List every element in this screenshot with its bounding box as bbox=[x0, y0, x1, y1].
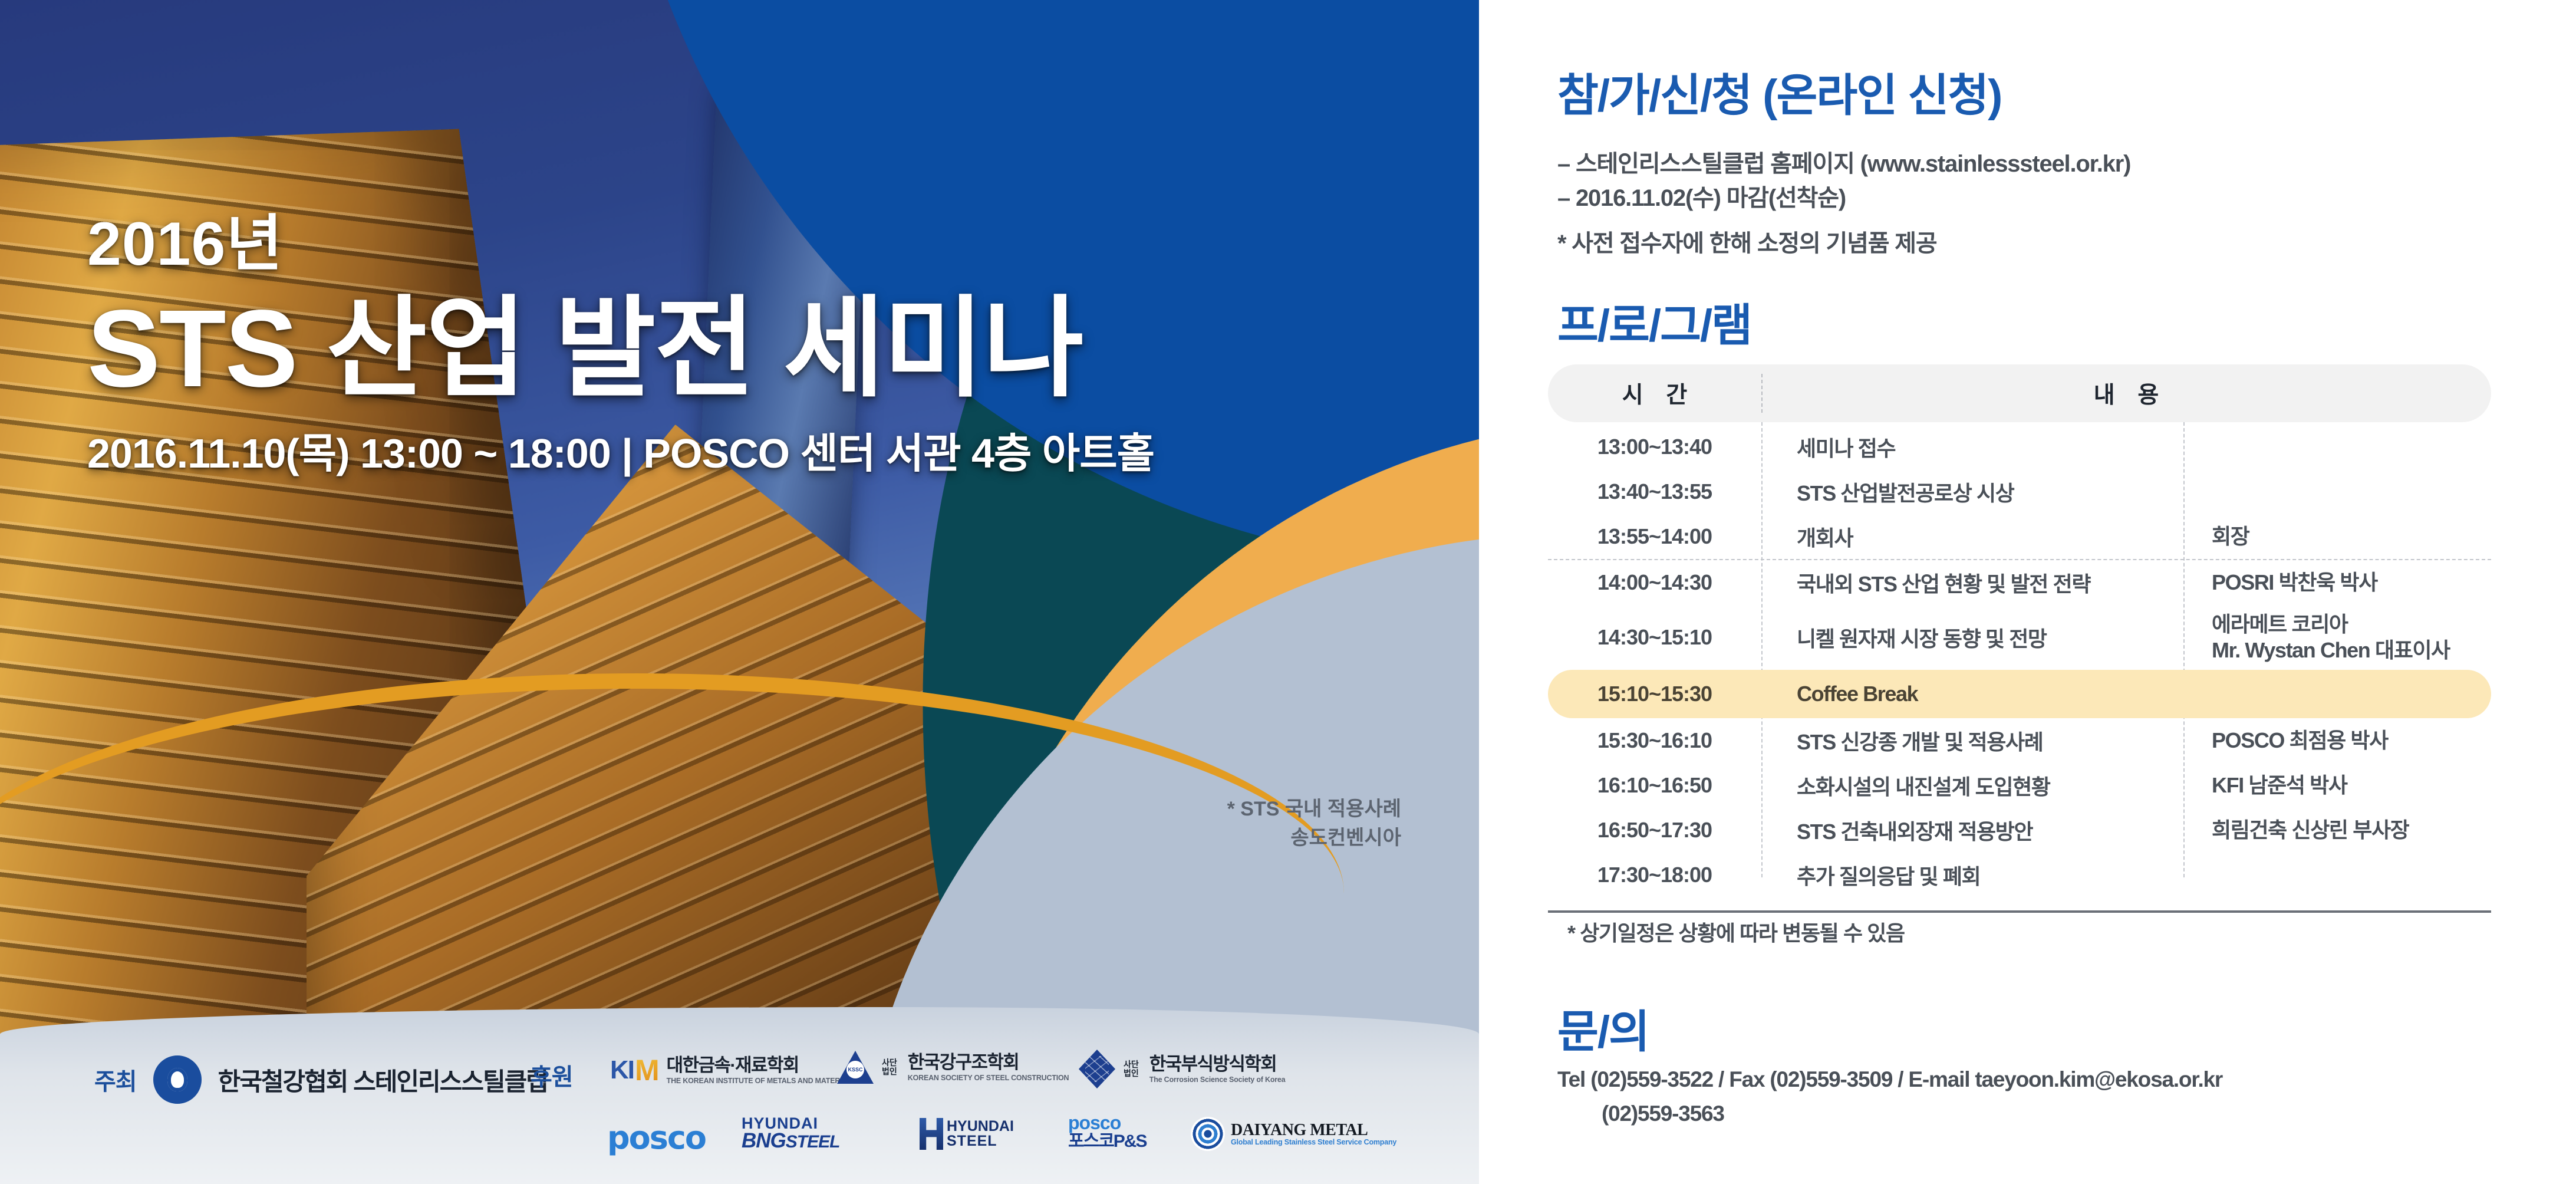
society-logo-kim: KIM 대한금속·재료학회 THE KOREAN INSTITUTE OF ME… bbox=[610, 1053, 857, 1087]
pns-line2: 포스코P&S bbox=[1068, 1133, 1147, 1151]
column-header-content: 내 용 bbox=[1761, 377, 2491, 410]
row-topic: STS 산업발전공로상 시상 bbox=[1761, 476, 2183, 507]
program-table: 시 간 내 용 13:00~13:40 세미나 접수 13:40~13:55 S… bbox=[1548, 364, 2491, 913]
row-topic: 세미나 접수 bbox=[1761, 432, 2183, 462]
row-topic: STS 건축내외장재 적용방안 bbox=[1761, 815, 2183, 846]
event-year: 2016년 bbox=[87, 213, 1372, 275]
table-row: 14:00~14:30 국내외 STS 산업 현황 및 발전 전략 POSRI … bbox=[1548, 560, 2491, 605]
korea-iron-steel-association-seal-icon bbox=[153, 1055, 202, 1104]
info-panel: 참/가/신/청 (온라인 신청) – 스테인리스스틸클럽 홈페이지 (www.s… bbox=[1479, 0, 2576, 1184]
row-speaker: 회장 bbox=[2183, 524, 2491, 550]
daiyang-line2: Global Leading Stainless Steel Service C… bbox=[1231, 1139, 1396, 1146]
society-name-kr: 한국부식방식학회 bbox=[1149, 1055, 1286, 1073]
hyundai-steel-logo-icon bbox=[920, 1118, 943, 1150]
daiyang-line1: DAIYANG METAL bbox=[1231, 1121, 1396, 1139]
photo-caption-line1: * STS 국내 적용사례 bbox=[1227, 795, 1401, 824]
society-name-en: KOREAN SOCIETY OF STEEL CONSTRUCTION bbox=[908, 1074, 1069, 1082]
bng-line2: BNG bbox=[742, 1129, 786, 1152]
row-time: 13:55~14:00 bbox=[1548, 524, 1761, 549]
hyundai-steel-line1: HYUNDAI bbox=[947, 1119, 1014, 1134]
society-name-kr: 대한금속·재료학회 bbox=[667, 1056, 857, 1074]
row-speaker: POSCO 최점용 박사 bbox=[2183, 728, 2491, 754]
table-row: 15:30~16:10 STS 신강종 개발 및 적용사례 POSCO 최점용 … bbox=[1548, 718, 2491, 763]
row-speaker: KFI 남준석 박사 bbox=[2183, 772, 2491, 798]
contact-heading: 문/의 bbox=[1557, 995, 1649, 1060]
row-time: 13:40~13:55 bbox=[1548, 479, 1761, 504]
page-title: STS 산업 발전 세미나 bbox=[87, 290, 1372, 409]
pns-line1: posco bbox=[1068, 1113, 1147, 1133]
corrosion-science-diamond-icon bbox=[1079, 1050, 1115, 1088]
row-time: 15:30~16:10 bbox=[1548, 728, 1761, 753]
company-logo-daiyang-metal: DAIYANG METAL Global Leading Stainless S… bbox=[1191, 1117, 1396, 1151]
bng-line2b: STEEL bbox=[786, 1132, 840, 1152]
row-time: 14:30~15:10 bbox=[1548, 625, 1761, 650]
row-time: 13:00~13:40 bbox=[1548, 435, 1761, 459]
row-time: 15:10~15:30 bbox=[1548, 682, 1761, 706]
table-row: 14:30~15:10 니켈 원자재 시장 동향 및 전망 에라메트 코리아 M… bbox=[1548, 605, 2491, 670]
hero-title-block: 2016년 STS 산업 발전 세미나 2016.11.10(목) 13:00 … bbox=[87, 213, 1372, 476]
event-datetime-venue: 2016.11.10(목) 13:00 ~ 18:00 | POSCO 센터 서… bbox=[87, 431, 1372, 476]
row-topic: Coffee Break bbox=[1761, 682, 2183, 706]
host-group: 주최 한국철강협회 스테인리스스틸클럽 bbox=[94, 1055, 548, 1104]
company-logo-bng-steel: HYUNDAI BNGSTEEL bbox=[742, 1116, 839, 1152]
sponsor-label: 후원 bbox=[531, 1058, 573, 1092]
contact-line-primary: Tel (02)559-3522 / Fax (02)559-3509 / E-… bbox=[1557, 1067, 2222, 1092]
hero-visual-panel: 2016년 STS 산업 발전 세미나 2016.11.10(목) 13:00 … bbox=[0, 0, 1479, 1184]
row-time: 17:30~18:00 bbox=[1548, 863, 1761, 887]
society-prefix: 사단법인 bbox=[1124, 1060, 1139, 1077]
company-logo-hyundai-steel: HYUNDAI STEEL bbox=[920, 1118, 1014, 1150]
row-topic: 니켈 원자재 시장 동향 및 전망 bbox=[1761, 622, 2183, 653]
table-row: 17:30~18:00 추가 질의응답 및 폐회 bbox=[1548, 853, 2491, 897]
registration-line-gift: * 사전 접수자에 한해 소정의 기념품 제공 bbox=[1557, 224, 1936, 258]
posco-pns-logo-icon: posco 포스코P&S bbox=[1068, 1113, 1147, 1150]
header-column-divider bbox=[1761, 374, 1763, 413]
row-topic: 국내외 STS 산업 현황 및 발전 전략 bbox=[1761, 567, 2183, 598]
row-time: 16:10~16:50 bbox=[1548, 773, 1761, 798]
row-topic: 개회사 bbox=[1761, 521, 2183, 552]
hyundai-bng-steel-logo-icon: HYUNDAI BNGSTEEL bbox=[742, 1116, 839, 1152]
table-body: 13:00~13:40 세미나 접수 13:40~13:55 STS 산업발전공… bbox=[1548, 422, 2491, 897]
row-topic: 소화시설의 내진설계 도입현황 bbox=[1761, 770, 2183, 801]
row-speaker: POSRI 박찬욱 박사 bbox=[2183, 570, 2491, 596]
photo-caption-line2: 송도컨벤시아 bbox=[1227, 824, 1401, 853]
society-name-en: THE KOREAN INSTITUTE OF METALS AND MATER… bbox=[667, 1077, 857, 1085]
contact-line-secondary: (02)559-3563 bbox=[1602, 1101, 1724, 1126]
registration-heading: 참/가/신/청 (온라인 신청) bbox=[1557, 59, 2001, 124]
program-heading: 프/로/그/램 bbox=[1557, 289, 1751, 354]
seminar-poster: 2016년 STS 산업 발전 세미나 2016.11.10(목) 13:00 … bbox=[0, 0, 2576, 1184]
society-name-en: The Corrosion Science Society of Korea bbox=[1149, 1076, 1286, 1084]
company-logo-posco-pns: posco 포스코P&S bbox=[1068, 1113, 1147, 1150]
table-row: 13:00~13:40 세미나 접수 bbox=[1548, 425, 2491, 469]
row-time: 16:50~17:30 bbox=[1548, 818, 1761, 843]
daiyang-metal-logo-icon bbox=[1191, 1117, 1225, 1151]
row-speaker: 희림건축 신상린 부사장 bbox=[2183, 817, 2491, 843]
registration-line-website: – 스테인리스스틸클럽 홈페이지 (www.stainlesssteel.or.… bbox=[1557, 144, 2130, 179]
table-row: 16:10~16:50 소화시설의 내진설계 도입현황 KFI 남준석 박사 bbox=[1548, 763, 2491, 808]
table-row-coffee-break: 15:10~15:30 Coffee Break bbox=[1548, 670, 2491, 718]
society-logo-corrosion: 사단법인 한국부식방식학회 The Corrosion Science Soci… bbox=[1079, 1050, 1285, 1088]
kim-logo-icon: KIM bbox=[610, 1053, 658, 1087]
society-prefix: 사단법인 bbox=[882, 1058, 897, 1076]
host-name: 한국철강협회 스테인리스스틸클럽 bbox=[218, 1062, 548, 1098]
society-logo-kssc: 사단법인 한국강구조학회 KOREAN SOCIETY OF STEEL CON… bbox=[837, 1051, 1069, 1084]
society-name-kr: 한국강구조학회 bbox=[908, 1053, 1069, 1071]
registration-line-deadline: – 2016.11.02(수) 마감(선착순) bbox=[1557, 179, 1846, 213]
table-row: 16:50~17:30 STS 건축내외장재 적용방안 희림건축 신상린 부사장 bbox=[1548, 808, 2491, 853]
column-header-time: 시 간 bbox=[1548, 377, 1761, 410]
sponsor-logo-strip: 주최 한국철강협회 스테인리스스틸클럽 후원 KIM 대한금속·재료학회 THE… bbox=[0, 1032, 1479, 1184]
table-row: 13:55~14:00 개회사 회장 bbox=[1548, 514, 2491, 559]
program-note: * 상기일정은 상황에 따라 변동될 수 있음 bbox=[1567, 916, 1905, 947]
table-header-row: 시 간 내 용 bbox=[1548, 364, 2491, 422]
row-time: 14:00~14:30 bbox=[1548, 570, 1761, 595]
row-topic: STS 신강종 개발 및 적용사례 bbox=[1761, 725, 2183, 756]
table-bottom-rule bbox=[1548, 910, 2491, 913]
photo-caption: * STS 국내 적용사례 송도컨벤시아 bbox=[1227, 795, 1401, 853]
company-logo-posco: posco bbox=[607, 1119, 706, 1156]
sponsor-label-group: 후원 bbox=[531, 1058, 573, 1092]
posco-logo-icon: posco bbox=[607, 1119, 706, 1156]
table-row: 13:40~13:55 STS 산업발전공로상 시상 bbox=[1548, 469, 2491, 514]
host-label: 주최 bbox=[94, 1063, 137, 1097]
kssc-triangle-icon bbox=[837, 1051, 874, 1084]
row-speaker: 에라메트 코리아 Mr. Wystan Chen 대표이사 bbox=[2183, 611, 2491, 663]
hyundai-steel-line2: STEEL bbox=[947, 1134, 1014, 1149]
row-topic: 추가 질의응답 및 폐회 bbox=[1761, 860, 2183, 890]
